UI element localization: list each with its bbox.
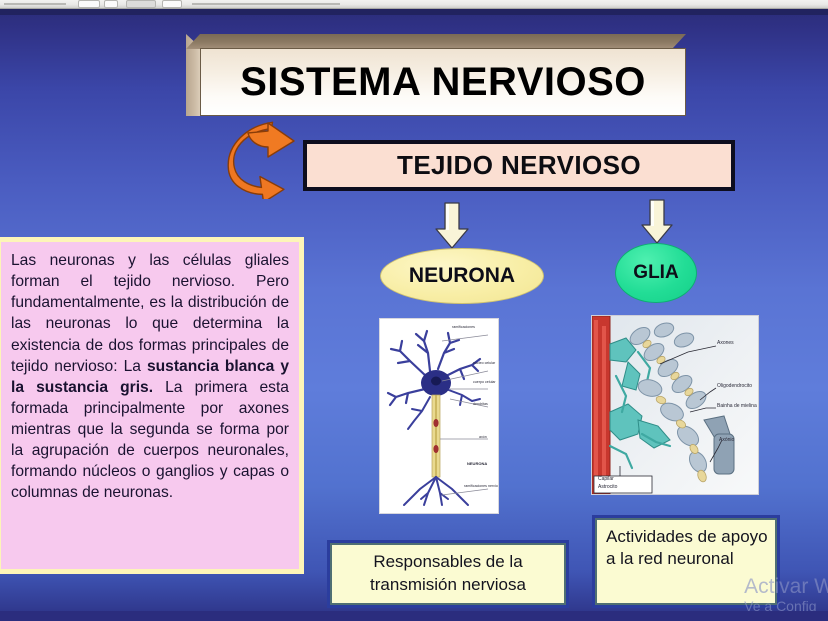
neuron-label-ramificaciones-nerviosas: ramificaciones nerviosas bbox=[464, 485, 499, 489]
glia-diagram-image: Axones Oligodendrocito Bainha de mielina… bbox=[591, 315, 759, 495]
toolbar-address-bar[interactable] bbox=[192, 3, 340, 5]
title-banner-top-bevel bbox=[186, 34, 686, 49]
neurona-oval: NEURONA bbox=[380, 248, 544, 304]
neuron-label-ramificaciones: ramificaciones bbox=[452, 326, 475, 330]
tejido-nervioso-box: TEJIDO NERVIOSO bbox=[303, 140, 735, 191]
glia-label-astrocito: Astrocito bbox=[598, 485, 617, 490]
glia-label-axonio: Axónio bbox=[719, 438, 734, 443]
glia-caption-text: Actividades de apoyo a la red neuronal bbox=[606, 526, 775, 571]
neuron-label-nucleo-celular: núcleo celular bbox=[473, 362, 495, 366]
toolbar-control-2[interactable] bbox=[78, 0, 100, 8]
neurona-caption-text: Responsables de la transmisión nerviosa bbox=[332, 551, 564, 597]
neuron-label-neurona: NEURONA bbox=[467, 462, 487, 466]
glia-oval: GLIA bbox=[615, 243, 697, 303]
neurona-caption-box: Responsables de la transmisión nerviosa bbox=[330, 543, 566, 605]
description-part2: La primera esta formada principalmente p… bbox=[11, 379, 289, 502]
glia-caption-box: Actividades de apoyo a la red neuronal bbox=[595, 518, 777, 605]
tejido-nervioso-label: TEJIDO NERVIOSO bbox=[397, 150, 641, 181]
glia-label-capilar: Capilar bbox=[598, 477, 614, 482]
app-toolbar-strip[interactable] bbox=[0, 0, 828, 9]
description-part1: Las neuronas y las células gliales forma… bbox=[11, 252, 289, 375]
slide-title-banner: SISTEMA NERVIOSO bbox=[186, 34, 686, 116]
toolbar-control-4[interactable] bbox=[126, 0, 156, 8]
toolbar-control-3[interactable] bbox=[104, 0, 118, 8]
page-title: SISTEMA NERVIOSO bbox=[200, 48, 686, 116]
neuron-label-dendritas: dendritas bbox=[473, 403, 488, 407]
neuron-diagram-image: ramificaciones núcleo celular cuerpo cel… bbox=[379, 318, 499, 514]
down-arrow-icon-glia bbox=[640, 199, 674, 245]
glia-label-bainha-mielina: Bainha de mielina bbox=[717, 404, 757, 409]
glia-label-axones: Axones bbox=[717, 341, 734, 346]
down-arrow-icon-neurona bbox=[434, 202, 470, 250]
toolbar-control-1[interactable] bbox=[4, 3, 66, 5]
presentation-slide: SISTEMA NERVIOSO TEJIDO NERVIOSO NEURONA… bbox=[0, 9, 828, 621]
toolbar-control-5[interactable] bbox=[162, 0, 182, 8]
glia-oval-label: GLIA bbox=[633, 262, 678, 284]
description-paragraph: Las neuronas y las células gliales forma… bbox=[11, 250, 289, 504]
neurona-oval-label: NEURONA bbox=[409, 264, 515, 288]
slide-bottom-band bbox=[0, 611, 828, 621]
description-text-panel: Las neuronas y las células gliales forma… bbox=[0, 237, 304, 574]
slide-top-band bbox=[0, 9, 828, 15]
neuron-label-cuerpo-celular: cuerpo celular bbox=[473, 381, 496, 385]
neuron-label-axon: axón bbox=[479, 436, 487, 440]
glia-label-oligodendrocito: Oligodendrocito bbox=[717, 384, 752, 389]
curved-arrow-icon bbox=[218, 121, 302, 199]
